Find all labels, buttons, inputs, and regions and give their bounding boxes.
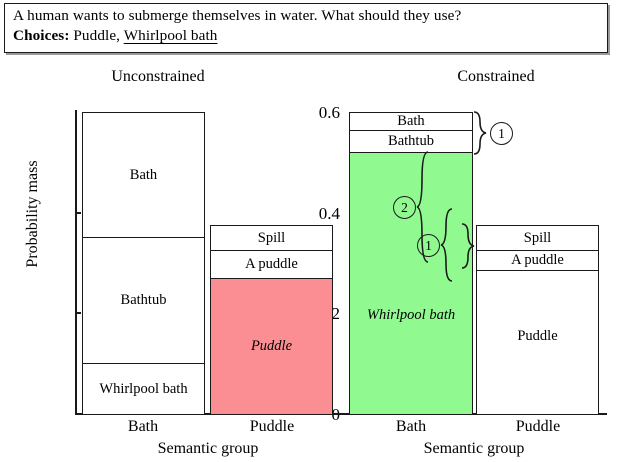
bar-unconstrained-bath[interactable]: Bath Bathtub Whirlpool bath xyxy=(82,112,205,413)
x-tick-puddle: Puddle xyxy=(468,418,608,436)
panel-title-unconstrained: Unconstrained xyxy=(0,68,328,86)
choice-option-puddle: Puddle, xyxy=(73,27,120,44)
annotation-brace-outer xyxy=(473,111,489,155)
segment-spill[interactable]: Spill xyxy=(477,226,598,251)
annotation-brace-inner xyxy=(440,208,454,282)
prompt-choices: Choices: Puddle, Whirlpool bath xyxy=(13,27,217,45)
segment-spill[interactable]: Spill xyxy=(211,226,332,251)
segment-label: Spill xyxy=(258,231,285,246)
segment-a-puddle[interactable]: A puddle xyxy=(477,251,598,271)
choice-option-whirlpool-bath: Whirlpool bath xyxy=(124,27,218,44)
annotation-marker-1-inner: 1 xyxy=(417,234,440,257)
prompt-question: A human wants to submerge themselves in … xyxy=(13,7,461,25)
annotation-brace-puddle xyxy=(461,223,475,269)
annotation-marker-1-top: 1 xyxy=(490,122,513,145)
segment-label: Puddle xyxy=(517,329,557,344)
bar-unconstrained-puddle[interactable]: Spill A puddle Puddle xyxy=(210,225,333,413)
segment-bath[interactable]: Bath xyxy=(83,113,204,238)
x-tick-puddle: Puddle xyxy=(202,418,342,436)
segment-puddle[interactable]: Puddle xyxy=(477,271,598,414)
bar-constrained-bath[interactable]: Bath Bathtub Whirlpool bath xyxy=(349,112,473,413)
prompt-box: A human wants to submerge themselves in … xyxy=(4,3,608,53)
segment-label: Bathtub xyxy=(121,293,167,308)
segment-whirlpool-bath-highlight[interactable]: Whirlpool bath xyxy=(350,153,472,414)
panel-constrained: Constrained Bath Bathtub Whirlpool bath … xyxy=(330,55,622,462)
segment-bathtub[interactable]: Bathtub xyxy=(350,131,472,153)
x-axis-title: Semantic group xyxy=(68,440,348,458)
segment-bathtub[interactable]: Bathtub xyxy=(83,238,204,363)
annotation-marker-2: 2 xyxy=(393,196,416,219)
segment-label: A puddle xyxy=(511,253,564,268)
segment-label: Puddle xyxy=(251,339,292,354)
y-tick-mark-0.2 xyxy=(76,312,81,314)
segment-label: A puddle xyxy=(245,257,298,272)
segment-puddle-highlight[interactable]: Puddle xyxy=(211,279,332,414)
bar-constrained-puddle[interactable]: Spill A puddle Puddle xyxy=(476,225,599,413)
x-tick-bath: Bath xyxy=(73,418,213,436)
segment-label: Bath xyxy=(397,114,424,129)
x-tick-bath: Bath xyxy=(341,418,481,436)
y-axis-line xyxy=(75,110,77,415)
segment-label: Bathtub xyxy=(388,134,434,149)
segment-whirlpool-bath[interactable]: Whirlpool bath xyxy=(83,364,204,414)
segment-label: Bath xyxy=(130,168,157,183)
segment-label: Spill xyxy=(524,231,551,246)
x-axis-title: Semantic group xyxy=(334,440,614,458)
y-tick-mark-0.4 xyxy=(76,212,81,214)
y-axis-title: Probability mass xyxy=(24,134,42,294)
segment-label: Whirlpool bath xyxy=(99,382,187,397)
panel-title-constrained: Constrained xyxy=(350,68,622,86)
stacked-bar-chart: Unconstrained Probability mass 0.6 0.4 0… xyxy=(0,55,622,462)
panel-unconstrained: Unconstrained Probability mass 0.6 0.4 0… xyxy=(0,55,340,462)
choices-label: Choices: xyxy=(13,27,69,44)
segment-a-puddle[interactable]: A puddle xyxy=(211,251,332,279)
segment-label: Whirlpool bath xyxy=(367,308,455,323)
segment-bath[interactable]: Bath xyxy=(350,113,472,131)
